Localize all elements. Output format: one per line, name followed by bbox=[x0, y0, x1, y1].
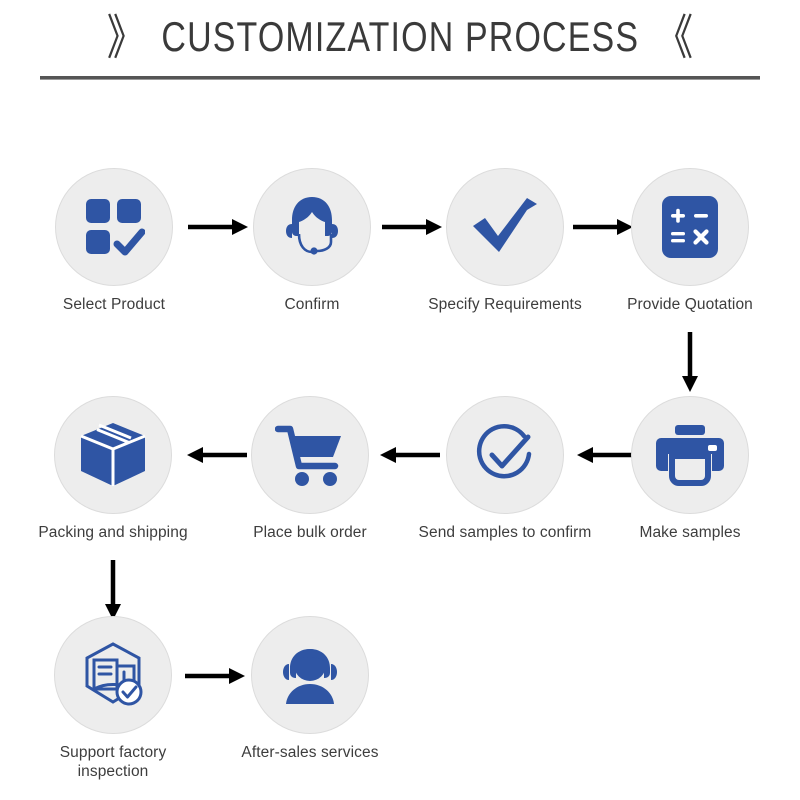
step-place-bulk-order[interactable]: Place bulk order bbox=[210, 396, 410, 542]
step-icon-circle bbox=[631, 168, 749, 286]
grid-check-icon bbox=[83, 196, 145, 258]
step-label: Make samples bbox=[590, 523, 790, 542]
double-chevron-right-icon: 》 bbox=[107, 14, 145, 62]
title-row: 》 CUSTOMIZATION PROCESS 《 bbox=[0, 12, 800, 64]
step-packing-and-shipping[interactable]: Packing and shipping bbox=[13, 396, 213, 542]
step-make-samples[interactable]: Make samples bbox=[590, 396, 790, 542]
step-specify-requirements[interactable]: Specify Requirements bbox=[405, 168, 605, 314]
step-select-product[interactable]: Select Product bbox=[14, 168, 214, 314]
step-label: Specify Requirements bbox=[405, 295, 605, 314]
step-icon-circle bbox=[631, 396, 749, 514]
step-icon-circle bbox=[54, 396, 172, 514]
step-label: Provide Quotation bbox=[590, 295, 790, 314]
arrow-row1-to-row2 bbox=[680, 332, 700, 394]
header-divider bbox=[40, 76, 760, 80]
arrow-row2-to-row3 bbox=[103, 560, 123, 622]
printer-icon bbox=[656, 424, 724, 486]
calculator-icon bbox=[661, 195, 719, 259]
step-label: Confirm bbox=[212, 295, 412, 314]
step-label: Send samples to confirm bbox=[405, 523, 605, 542]
step-icon-circle bbox=[446, 168, 564, 286]
support-person-icon bbox=[277, 644, 343, 706]
step-support-factory-inspection[interactable]: Support factory inspection bbox=[13, 616, 213, 781]
step-label: Place bulk order bbox=[210, 523, 410, 542]
circle-check-icon bbox=[472, 422, 538, 488]
step-provide-quotation[interactable]: Provide Quotation bbox=[590, 168, 790, 314]
headset-agent-icon bbox=[279, 194, 345, 260]
step-label: Support factory inspection bbox=[13, 743, 213, 781]
step-confirm[interactable]: Confirm bbox=[212, 168, 412, 314]
shopping-cart-icon bbox=[275, 422, 345, 488]
step-icon-circle bbox=[55, 168, 173, 286]
step-icon-circle bbox=[54, 616, 172, 734]
step-label: After-sales services bbox=[210, 743, 410, 762]
package-box-icon bbox=[78, 421, 148, 489]
step-icon-circle bbox=[253, 168, 371, 286]
step-icon-circle bbox=[251, 396, 369, 514]
step-icon-circle bbox=[446, 396, 564, 514]
step-after-sales-services[interactable]: After-sales services bbox=[210, 616, 410, 762]
checkmark-icon bbox=[471, 196, 539, 258]
step-send-samples-to-confirm[interactable]: Send samples to confirm bbox=[405, 396, 605, 542]
step-label: Select Product bbox=[14, 295, 214, 314]
double-chevron-left-icon: 《 bbox=[655, 14, 693, 62]
factory-shield-check-icon bbox=[79, 642, 147, 708]
page-header: 》 CUSTOMIZATION PROCESS 《 bbox=[0, 0, 800, 90]
step-label: Packing and shipping bbox=[13, 523, 213, 542]
step-icon-circle bbox=[251, 616, 369, 734]
page-title: CUSTOMIZATION PROCESS bbox=[161, 14, 639, 61]
